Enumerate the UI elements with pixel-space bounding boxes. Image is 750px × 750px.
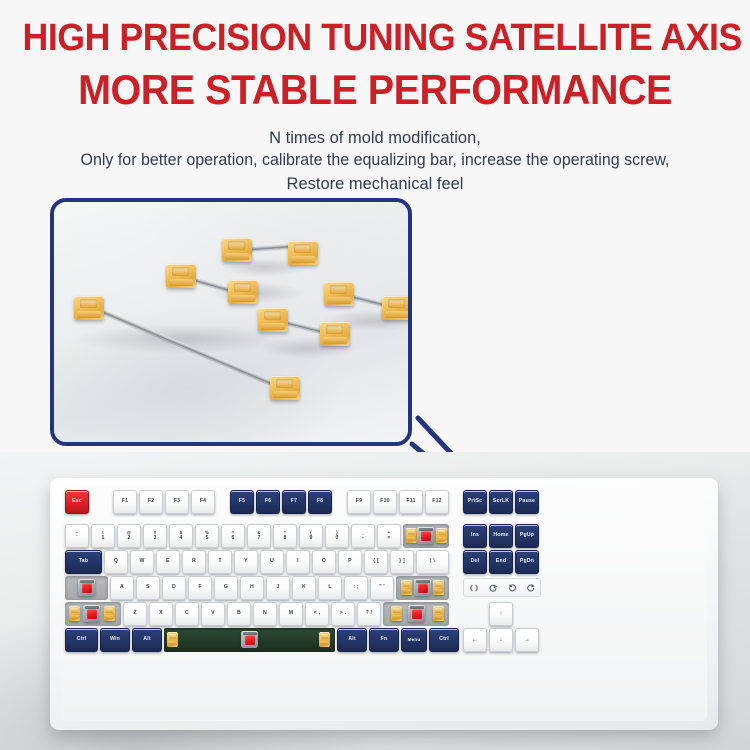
key-legend-bottom: 1 — [101, 536, 104, 541]
key-f6[interactable]: F6 — [256, 490, 280, 514]
key-ins[interactable]: Ins — [463, 524, 487, 548]
key-8[interactable]: *8 — [273, 524, 297, 548]
key-bracket-left[interactable]: { [ — [364, 550, 388, 574]
key-legend-bottom: 0 — [335, 536, 338, 541]
key-legend-bottom: 6 — [231, 536, 234, 541]
key-f10[interactable]: F10 — [373, 490, 397, 514]
key-label: X — [159, 611, 163, 616]
key-label: F12 — [432, 499, 442, 504]
backspace-switch[interactable] — [417, 527, 434, 544]
key-legend-bottom: 4 — [179, 536, 182, 541]
key-label: ← — [472, 637, 478, 643]
key-e[interactable]: E — [156, 550, 180, 574]
key-v[interactable]: V — [201, 602, 225, 626]
key-arrow-up[interactable]: ↑ — [489, 602, 513, 626]
key-ctrl-right[interactable]: Ctrl — [429, 628, 459, 652]
key-label: W — [139, 559, 144, 564]
key-del[interactable]: Del — [463, 550, 487, 574]
spacebar-switch[interactable] — [241, 631, 258, 648]
key-pgdn[interactable]: PgDn — [515, 550, 539, 574]
key-label: Ins — [471, 533, 479, 538]
key-label: F9 — [356, 499, 362, 504]
key-1[interactable]: !1 — [91, 524, 115, 548]
key-label: PrtSc — [468, 499, 483, 504]
key-period[interactable]: > . — [331, 602, 355, 626]
key-9[interactable]: (9 — [299, 524, 323, 548]
key-m[interactable]: M — [279, 602, 303, 626]
key-label: Fn — [381, 637, 388, 642]
key-u[interactable]: U — [260, 550, 284, 574]
key-label: O — [322, 559, 326, 564]
key-j[interactable]: J — [266, 576, 290, 600]
num-lock-indicator-icon — [470, 584, 478, 592]
key-legend-bottom: 9 — [309, 536, 312, 541]
headline-line-1: HIGH PRECISION TUNING SATELLITE AXIS — [23, 16, 728, 60]
key-legend-bottom: = — [387, 536, 390, 541]
scroll-lock-indicator-icon — [508, 584, 516, 592]
key-win[interactable]: Win — [100, 628, 130, 652]
key-f[interactable]: F — [188, 576, 212, 600]
key-label: PgUp — [520, 533, 534, 538]
subtitle-line-1: N times of mold modification, — [11, 126, 739, 149]
subtitle-line-2: Only for better operation, calibrate the… — [11, 149, 739, 172]
key-esc[interactable]: Esc — [65, 490, 89, 514]
key-i[interactable]: I — [286, 550, 310, 574]
key-pgup[interactable]: PgUp — [515, 524, 539, 548]
key-comma[interactable]: < , — [305, 602, 329, 626]
key-label: Z — [133, 611, 136, 616]
right-shift-stabilizer-right — [433, 606, 444, 621]
stabilizer-closeup-frame — [50, 198, 412, 446]
key-scrlk[interactable]: ScrLK — [489, 490, 513, 514]
key-label: F4 — [200, 499, 206, 504]
key-b[interactable]: B — [227, 602, 251, 626]
key-label: U — [270, 559, 274, 564]
key-o[interactable]: O — [312, 550, 336, 574]
key-ctrl-left[interactable]: Ctrl — [65, 628, 98, 652]
key-f1[interactable]: F1 — [113, 490, 137, 514]
key-arrow-right[interactable]: → — [515, 628, 539, 652]
key-t[interactable]: T — [208, 550, 232, 574]
key-legend-bottom: 8 — [283, 536, 286, 541]
key-0[interactable]: )0 — [325, 524, 349, 548]
key-s[interactable]: S — [136, 576, 160, 600]
key-f9[interactable]: F9 — [347, 490, 371, 514]
key-legend-bottom: 7 — [257, 536, 260, 541]
key-label: F2 — [148, 499, 154, 504]
spacebar-stabilizer-right — [319, 632, 330, 647]
key-label: S — [146, 585, 150, 590]
key-label: F11 — [406, 499, 415, 504]
key-f3[interactable]: F3 — [165, 490, 189, 514]
key-alt-right[interactable]: Alt — [337, 628, 367, 652]
right-shift-switch[interactable] — [408, 605, 425, 622]
backspace-stabilizer-right — [436, 528, 447, 543]
key-label: Y — [244, 559, 248, 564]
key-label: F — [198, 585, 201, 590]
key-semicolon[interactable]: : ; — [344, 576, 368, 600]
keyboard-body: Esc F1 F2 F3 F4 F5 F6 F7 F8 F9 F10 F11 F… — [50, 478, 718, 730]
key-f4[interactable]: F4 — [191, 490, 215, 514]
win-lock-indicator-icon — [527, 584, 535, 592]
stabilizer-set-left — [166, 262, 266, 304]
key-home[interactable]: Home — [489, 524, 513, 548]
key-label: H — [250, 585, 254, 590]
key-label: Tab — [79, 559, 88, 564]
key-g[interactable]: G — [214, 576, 238, 600]
key-label: < , — [314, 611, 321, 616]
key-label: F6 — [265, 499, 271, 504]
key-f5[interactable]: F5 — [230, 490, 254, 514]
key-label: → — [524, 637, 530, 643]
key-pause[interactable]: Pause — [515, 490, 539, 514]
enter-switch[interactable] — [414, 579, 431, 596]
key-label: B — [237, 611, 241, 616]
key-legend-bottom: - — [362, 536, 364, 541]
key-label: F5 — [239, 499, 245, 504]
capslock-switch[interactable] — [78, 579, 95, 596]
key-d[interactable]: D — [162, 576, 186, 600]
key-5[interactable]: %5 — [195, 524, 219, 548]
key-arrow-left[interactable]: ← — [463, 628, 487, 652]
poster-canvas: HIGH PRECISION TUNING SATELLITE AXIS MOR… — [0, 0, 750, 750]
key-a[interactable]: A — [110, 576, 134, 600]
right-shift-stabilizer-left — [391, 606, 402, 621]
key-label: Win — [110, 637, 120, 642]
left-shift-stabilizer-left — [69, 606, 80, 621]
key-equals[interactable]: += — [377, 524, 401, 548]
key-label: F3 — [174, 499, 180, 504]
caps-lock-indicator-icon — [489, 584, 497, 592]
key-label: N — [263, 611, 267, 616]
key-label: T — [218, 559, 221, 564]
key-legend-bottom: 5 — [205, 536, 208, 541]
key-p[interactable]: P — [338, 550, 362, 574]
key-backtick[interactable]: ~` — [65, 524, 89, 548]
key-prtsc[interactable]: PrtSc — [463, 490, 487, 514]
key-c[interactable]: C — [175, 602, 199, 626]
key-label: Pause — [519, 499, 535, 504]
key-label: I — [297, 559, 299, 564]
key-f12[interactable]: F12 — [425, 490, 449, 514]
key-label: ? / — [366, 611, 373, 616]
key-label: PgDn — [520, 559, 534, 564]
key-label: Alt — [348, 637, 356, 642]
key-label: V — [211, 611, 215, 616]
key-n[interactable]: N — [253, 602, 277, 626]
key-end[interactable]: End — [489, 550, 513, 574]
key-bracket-right[interactable]: } ] — [390, 550, 414, 574]
indicator-panel — [463, 578, 541, 597]
key-legend-bottom: 2 — [127, 536, 130, 541]
key-label: | \ — [430, 559, 435, 564]
key-alt-left[interactable]: Alt — [132, 628, 162, 652]
key-label: F7 — [291, 499, 297, 504]
key-quote[interactable]: " ' — [370, 576, 394, 600]
key-label: Esc — [72, 499, 82, 504]
key-arrow-down[interactable]: ↓ — [489, 628, 513, 652]
key-y[interactable]: Y — [234, 550, 258, 574]
key-label: F8 — [317, 499, 323, 504]
subtitle-line-3: Restore mechanical feel — [11, 172, 739, 195]
key-menu[interactable]: Menu — [401, 628, 427, 652]
key-label: L — [328, 585, 331, 590]
key-f8[interactable]: F8 — [308, 490, 332, 514]
key-label: M — [289, 611, 294, 616]
key-label: G — [224, 585, 228, 590]
key-h[interactable]: H — [240, 576, 264, 600]
headline-line-2: MORE STABLE PERFORMANCE — [23, 66, 728, 114]
key-q[interactable]: Q — [104, 550, 128, 574]
spacebar-stabilizer-left — [167, 632, 178, 647]
key-label: F1 — [122, 499, 128, 504]
key-f11[interactable]: F11 — [399, 490, 423, 514]
enter-stabilizer-right — [433, 580, 444, 595]
key-slash[interactable]: ? / — [357, 602, 381, 626]
stabilizer-set-right — [324, 280, 412, 322]
key-label: ↑ — [499, 611, 502, 617]
key-label: " ' — [379, 585, 385, 590]
key-f2[interactable]: F2 — [139, 490, 163, 514]
key-label: P — [348, 559, 352, 564]
key-label: ScrLK — [493, 499, 509, 504]
key-label: R — [192, 559, 196, 564]
key-r[interactable]: R — [182, 550, 206, 574]
key-f7[interactable]: F7 — [282, 490, 306, 514]
key-w[interactable]: W — [130, 550, 154, 574]
key-label: Menu — [408, 638, 421, 643]
key-label: A — [120, 585, 124, 590]
key-6[interactable]: ^6 — [221, 524, 245, 548]
key-z[interactable]: Z — [123, 602, 147, 626]
key-2[interactable]: @2 — [117, 524, 141, 548]
key-3[interactable]: #3 — [143, 524, 167, 548]
key-label: K — [302, 585, 306, 590]
key-backslash[interactable]: | \ — [416, 550, 449, 574]
key-fn[interactable]: Fn — [369, 628, 399, 652]
key-label: C — [185, 611, 189, 616]
keyboard-photo: Esc F1 F2 F3 F4 F5 F6 F7 F8 F9 F10 F11 F… — [0, 452, 750, 750]
left-shift-stabilizer-right — [104, 606, 115, 621]
stabilizer-closeup-photo — [54, 202, 408, 442]
key-label: ↓ — [499, 637, 502, 643]
key-label: End — [496, 559, 506, 564]
key-legend-bottom: 3 — [153, 536, 156, 541]
key-label: } ] — [399, 559, 405, 564]
key-label: Ctrl — [77, 637, 87, 642]
key-label: E — [166, 559, 170, 564]
left-shift-switch[interactable] — [83, 605, 100, 622]
key-label: Del — [471, 559, 480, 564]
key-label: Alt — [143, 637, 151, 642]
key-label: > . — [340, 611, 347, 616]
key-minus[interactable]: _- — [351, 524, 375, 548]
key-label: { [ — [373, 559, 379, 564]
key-label: Home — [493, 533, 508, 538]
key-label: Q — [114, 559, 118, 564]
key-label: Ctrl — [439, 637, 449, 642]
key-label: F10 — [380, 499, 390, 504]
keyboard-plate: Esc F1 F2 F3 F4 F5 F6 F7 F8 F9 F10 F11 F… — [61, 486, 707, 721]
key-label: D — [172, 585, 176, 590]
key-label: J — [276, 585, 279, 590]
key-legend-bottom: ` — [76, 536, 78, 541]
enter-stabilizer-left — [401, 580, 412, 595]
key-x[interactable]: X — [149, 602, 173, 626]
key-tab[interactable]: Tab — [65, 550, 102, 574]
key-l[interactable]: L — [318, 576, 342, 600]
key-4[interactable]: $4 — [169, 524, 193, 548]
backspace-stabilizer-left — [406, 528, 417, 543]
key-7[interactable]: &7 — [247, 524, 271, 548]
key-k[interactable]: K — [292, 576, 316, 600]
key-label: : ; — [353, 585, 359, 590]
